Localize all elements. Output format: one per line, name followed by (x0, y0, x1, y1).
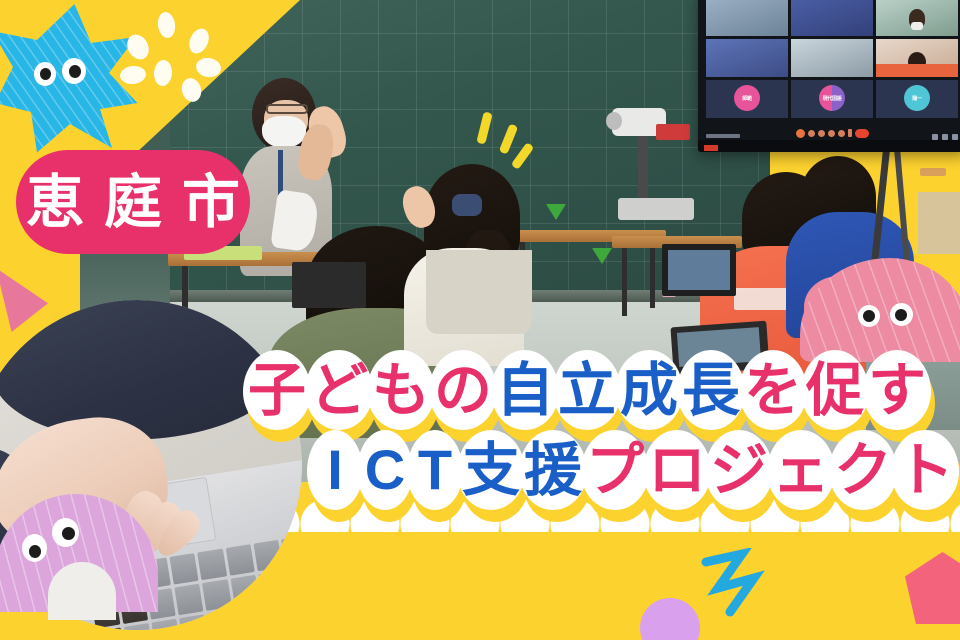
title-line-2-char-4: 援 (522, 432, 584, 508)
hangup-icon[interactable] (855, 129, 869, 138)
title-line-1-char-6: 成 (618, 352, 680, 428)
title-line-1-char-8: を (742, 352, 804, 428)
cloud-eye-left (858, 305, 880, 327)
avatar: 陽一 (904, 85, 930, 111)
monitor-power-led (704, 145, 718, 151)
doc-camera-lens (606, 112, 622, 130)
student-chair (426, 250, 532, 334)
avatar-tile[interactable]: 現代国語 (791, 80, 873, 118)
city-char-3: 市 (172, 154, 250, 250)
video-call-grid: 師範 現代国語 陽一 (706, 0, 958, 118)
title-line-2-char-2: T (410, 432, 460, 508)
title-line-1-char-10: す (866, 352, 928, 428)
star-eye-right (62, 58, 86, 84)
title-line-1-char-3: の (432, 352, 494, 428)
title-line-2-char-5: プ (584, 432, 646, 508)
chalk-box (920, 168, 946, 176)
video-call-monitor[interactable]: 師範 現代国語 陽一 (698, 0, 960, 152)
title-line-1-char-2: も (370, 352, 432, 428)
title-line-1-char-4: 自 (494, 352, 556, 428)
title-line-2-char-8: ェ (770, 432, 832, 508)
title-line-2-char-7: ジ (708, 432, 770, 508)
video-tile[interactable] (876, 0, 958, 36)
desk-leg (650, 242, 655, 308)
monitor-meeting-id (706, 134, 740, 138)
camera-icon[interactable] (808, 130, 815, 137)
cardboard-box (918, 192, 960, 254)
participants-icon[interactable] (828, 130, 835, 137)
share-icon[interactable] (818, 130, 825, 137)
title-line-2-char-9: ク (832, 432, 894, 508)
green-triangle (546, 204, 566, 220)
doc-camera-label (656, 124, 690, 140)
video-tile[interactable] (706, 0, 788, 36)
title-line-2-char-10: ト (894, 432, 956, 508)
mic-icon[interactable] (796, 129, 805, 138)
avatar: 現代国語 (819, 85, 845, 111)
main-title: 子どもの自立成長を促す ICT支援プロジェクト (232, 352, 960, 508)
blue-zigzag-icon (700, 548, 780, 618)
participant-shirt (876, 64, 958, 77)
laptop-display (668, 250, 730, 290)
monitor-bezel (698, 140, 960, 152)
video-tile[interactable] (876, 39, 958, 77)
city-badge-pill: 恵 庭 市 (16, 150, 250, 254)
teacher-mask (262, 116, 306, 148)
jersey-text (734, 288, 788, 310)
video-tile[interactable] (791, 0, 873, 36)
title-line-1-char-5: 立 (556, 352, 618, 428)
desk-leg (622, 248, 627, 316)
title-line-2-char-1: C (360, 432, 410, 508)
video-tile[interactable] (791, 39, 873, 77)
city-char-2: 庭 (94, 154, 172, 250)
teacher-glasses (266, 104, 308, 114)
title-line-1-char-7: 長 (680, 352, 742, 428)
banner-canvas: 師範 現代国語 陽一 (0, 0, 960, 640)
participant-mask (911, 22, 923, 30)
avatar-tile[interactable]: 師範 (706, 80, 788, 118)
arch-eye-right (52, 518, 79, 547)
doc-camera-base (618, 198, 694, 220)
title-line-2-char-0: I (310, 432, 360, 508)
title-line-1-char-1: ど (308, 352, 370, 428)
city-badge: 恵 庭 市 (16, 150, 250, 254)
title-line-1-char-0: 子 (246, 352, 308, 428)
title-line-2-char-6: ロ (646, 432, 708, 508)
title-line-1-char-9: 促 (804, 352, 866, 428)
green-triangle (592, 248, 612, 264)
city-char-1: 恵 (16, 154, 94, 250)
arch-eye-left (22, 534, 47, 562)
title-line-2-char-3: 支 (460, 432, 522, 508)
title-line-1: 子どもの自立成長を促す (246, 352, 960, 428)
video-tile[interactable] (706, 39, 788, 77)
avatar-tile[interactable]: 陽一 (876, 80, 958, 118)
star-eye-left (34, 62, 56, 86)
cloud-eye-right (890, 303, 913, 326)
more-icon[interactable] (848, 129, 852, 137)
title-line-2: ICT支援プロジェクト (310, 432, 960, 508)
avatar: 師範 (734, 85, 760, 111)
chat-icon[interactable] (838, 130, 845, 137)
laptop-screen (292, 262, 366, 308)
hair-tie (452, 194, 482, 216)
